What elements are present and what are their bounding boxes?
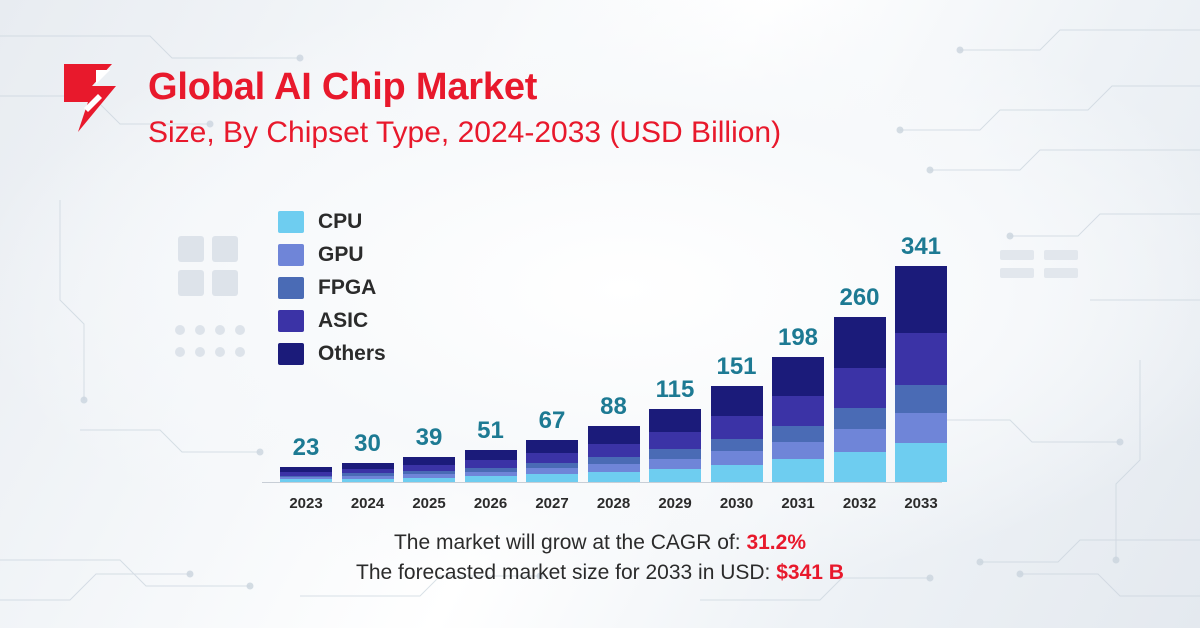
bar-segment-cpu	[711, 465, 763, 482]
bar-column[interactable]: 30	[342, 431, 394, 482]
bar-stack	[649, 409, 701, 482]
bar-segment-others	[772, 357, 824, 396]
bar-stack	[834, 317, 886, 482]
bar-total-label: 151	[716, 354, 756, 380]
bar-total-label: 115	[656, 377, 695, 403]
forecast-note: The forecasted market size for 2033 in U…	[0, 558, 1200, 588]
x-axis-tick: 2030	[711, 495, 763, 512]
forecast-note-text: The forecasted market size for 2033 in U…	[356, 561, 770, 584]
bar-segment-asic	[526, 453, 578, 463]
bar-segment-asic	[588, 444, 640, 457]
bar-stack	[526, 440, 578, 482]
page-subtitle: Size, By Chipset Type, 2024-2033 (USD Bi…	[148, 112, 781, 154]
bar-segment-cpu	[526, 474, 578, 482]
bar-column[interactable]: 341	[895, 234, 947, 482]
bar-segment-fpga	[895, 385, 947, 413]
bar-stack	[342, 463, 394, 482]
bar-total-label: 88	[600, 394, 627, 420]
bar-column[interactable]: 260	[834, 285, 886, 482]
bar-column[interactable]: 88	[588, 394, 640, 482]
x-axis-tick: 2023	[280, 495, 332, 512]
bar-column[interactable]: 39	[403, 425, 455, 482]
bar-stack	[588, 426, 640, 482]
forecast-value: $341 B	[776, 561, 844, 584]
bar-total-label: 23	[293, 435, 320, 461]
bar-segment-asic	[772, 396, 824, 426]
x-axis-tick: 2029	[649, 495, 701, 512]
precedence-research-logo-icon	[62, 62, 124, 134]
bar-segment-asic	[895, 333, 947, 385]
bar-total-label: 39	[416, 425, 443, 451]
bar-column[interactable]: 151	[711, 354, 763, 482]
bar-segment-fpga	[588, 457, 640, 464]
cagr-value: 31.2%	[746, 531, 806, 554]
bar-total-label: 198	[778, 325, 818, 351]
bar-segment-asic	[834, 368, 886, 408]
x-axis-tick: 2033	[895, 495, 947, 512]
bar-segment-gpu	[834, 429, 886, 452]
bar-segment-fpga	[772, 426, 824, 442]
bar-segment-gpu	[588, 464, 640, 472]
bar-segment-others	[895, 266, 947, 333]
bar-segment-cpu	[834, 452, 886, 482]
bar-column[interactable]: 23	[280, 435, 332, 482]
bar-segment-fpga	[711, 439, 763, 451]
bar-segment-others	[834, 317, 886, 368]
x-axis-tick: 2024	[342, 495, 394, 512]
bar-column[interactable]: 198	[772, 325, 824, 482]
bar-total-label: 51	[477, 418, 504, 444]
bar-column[interactable]: 51	[465, 418, 517, 482]
bar-stack	[895, 266, 947, 482]
x-axis-line	[262, 482, 942, 483]
bar-column[interactable]: 67	[526, 408, 578, 482]
bar-total-label: 30	[354, 431, 381, 457]
bar-segment-others	[403, 457, 455, 465]
bar-column[interactable]: 115	[649, 377, 701, 482]
bar-segment-asic	[649, 432, 701, 449]
bar-segment-fpga	[834, 408, 886, 429]
page-title: Global AI Chip Market	[148, 64, 781, 110]
bar-segment-others	[649, 409, 701, 432]
cagr-note-text: The market will grow at the CAGR of:	[394, 531, 741, 554]
bar-total-label: 67	[539, 408, 566, 434]
bar-segment-gpu	[772, 442, 824, 460]
header: Global AI Chip Market Size, By Chipset T…	[0, 0, 1200, 170]
bar-total-label: 341	[901, 234, 941, 260]
bar-segment-gpu	[711, 451, 763, 464]
bar-stack	[465, 450, 517, 482]
bar-segment-others	[588, 426, 640, 443]
bar-segment-cpu	[588, 472, 640, 482]
bar-segment-asic	[465, 460, 517, 468]
bar-stack	[280, 467, 332, 482]
bar-segment-gpu	[895, 413, 947, 443]
x-axis-tick: 2031	[772, 495, 824, 512]
x-axis-tick: 2025	[403, 495, 455, 512]
x-axis-tick: 2026	[465, 495, 517, 512]
bar-segment-gpu	[649, 459, 701, 469]
stacked-bar-chart: 233039516788115151198260341 202320242025…	[262, 195, 942, 520]
bar-stack	[772, 357, 824, 482]
cagr-note: The market will grow at the CAGR of: 31.…	[0, 528, 1200, 558]
x-axis-tick: 2032	[834, 495, 886, 512]
bar-stack	[711, 386, 763, 482]
bar-segment-cpu	[895, 443, 947, 482]
bar-segment-cpu	[649, 469, 701, 482]
x-axis-tick: 2028	[588, 495, 640, 512]
bar-segment-asic	[711, 416, 763, 439]
bar-segment-fpga	[649, 449, 701, 459]
bar-segment-cpu	[772, 459, 824, 482]
bar-stack	[403, 457, 455, 482]
bar-segment-others	[711, 386, 763, 416]
x-axis-tick: 2027	[526, 495, 578, 512]
bar-total-label: 260	[839, 285, 879, 311]
footer-notes: The market will grow at the CAGR of: 31.…	[0, 528, 1200, 588]
plot-area: 233039516788115151198260341	[262, 204, 942, 482]
title-block: Global AI Chip Market Size, By Chipset T…	[148, 64, 781, 154]
bar-segment-others	[526, 440, 578, 453]
bar-segment-others	[465, 450, 517, 460]
